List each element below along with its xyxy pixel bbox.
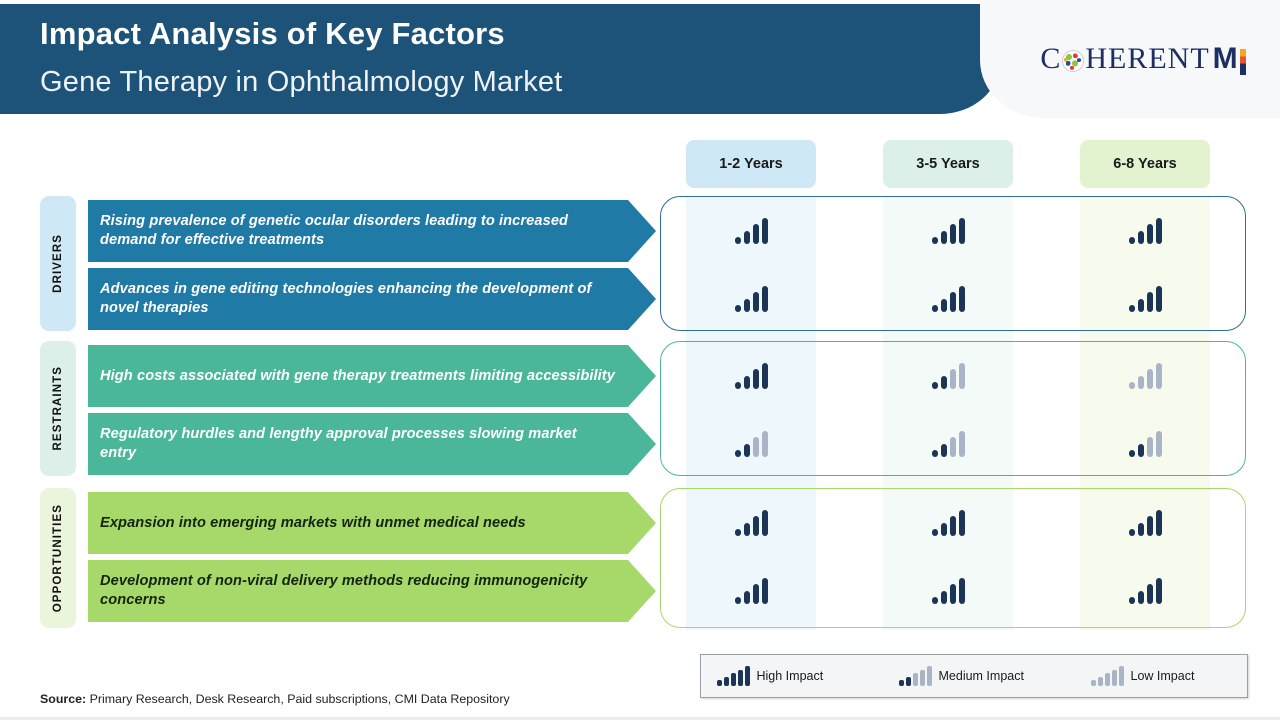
category-tab-opportunities[interactable]: OPPORTUNITIES: [40, 488, 76, 628]
factor-arrow[interactable]: Advances in gene editing technologies en…: [88, 268, 656, 330]
legend-label: Low Impact: [1131, 669, 1195, 683]
impact-cell: [686, 413, 816, 475]
page-title: Impact Analysis of Key Factors: [40, 16, 505, 52]
legend-item-medium: Medium Impact: [899, 666, 1024, 686]
impact-cell: [686, 200, 816, 262]
impact-cell: [1080, 413, 1210, 475]
legend-label: Medium Impact: [939, 669, 1024, 683]
logo-panel: CHERENT M: [980, 0, 1280, 118]
factor-arrow[interactable]: High costs associated with gene therapy …: [88, 345, 656, 407]
impact-cell: [883, 492, 1013, 554]
factor-arrow[interactable]: Rising prevalence of genetic ocular diso…: [88, 200, 656, 262]
impact-cell: [686, 268, 816, 330]
impact-cell: [686, 492, 816, 554]
impact-bars-high: [735, 218, 768, 244]
logo-text-part1: C: [1040, 42, 1061, 76]
logo-text-part3: M: [1213, 42, 1238, 75]
impact-cell: [1080, 268, 1210, 330]
factor-text: Advances in gene editing technologies en…: [100, 280, 616, 317]
impact-bars-high: [932, 218, 965, 244]
impact-bars-high: [932, 578, 965, 604]
factor-arrow[interactable]: Regulatory hurdles and lengthy approval …: [88, 413, 656, 475]
impact-bars-medium: [932, 431, 965, 457]
column-header-2[interactable]: 3-5 Years: [883, 140, 1013, 188]
impact-cell: [1080, 560, 1210, 622]
logo-text: CHERENT: [1040, 42, 1209, 76]
impact-bars-high: [735, 578, 768, 604]
impact-cell: [883, 345, 1013, 407]
impact-bars-high: [1129, 218, 1162, 244]
impact-bars-high: [1129, 286, 1162, 312]
impact-bars-medium: [1129, 431, 1162, 457]
factor-text: Rising prevalence of genetic ocular diso…: [100, 212, 616, 249]
impact-cell: [686, 560, 816, 622]
impact-bars-high: [932, 286, 965, 312]
factor-arrow[interactable]: Expansion into emerging markets with unm…: [88, 492, 656, 554]
impact-cell: [883, 268, 1013, 330]
infographic-page: Impact Analysis of Key Factors Gene Ther…: [0, 0, 1280, 720]
source-text: Primary Research, Desk Research, Paid su…: [86, 692, 510, 706]
legend-label: High Impact: [757, 669, 824, 683]
page-subtitle: Gene Therapy in Ophthalmology Market: [40, 66, 563, 99]
factor-text: Regulatory hurdles and lengthy approval …: [100, 425, 616, 462]
logo-text-part2: HERENT: [1085, 42, 1209, 76]
impact-bars-high: [932, 510, 965, 536]
legend-item-low: Low Impact: [1091, 666, 1194, 686]
impact-bars-medium: [932, 363, 965, 389]
column-header-1[interactable]: 1-2 Years: [686, 140, 816, 188]
logo-mi: M: [1213, 42, 1238, 76]
impact-bars-medium: [735, 431, 768, 457]
source-label: Source:: [40, 692, 86, 706]
logo-i-accent-icon: [1240, 49, 1246, 75]
category-tab-restraints[interactable]: RESTRAINTS: [40, 341, 76, 476]
column-header-label: 6-8 Years: [1113, 156, 1176, 172]
legend-item-high: High Impact: [717, 666, 823, 686]
globe-icon: [1062, 50, 1084, 72]
impact-cell: [1080, 492, 1210, 554]
category-tab-label: RESTRAINTS: [52, 366, 64, 450]
impact-bars-high: [735, 510, 768, 536]
brand-logo: CHERENT M: [1014, 42, 1245, 76]
impact-cell: [883, 200, 1013, 262]
column-header-label: 3-5 Years: [916, 156, 979, 172]
impact-bars-high: [735, 286, 768, 312]
category-tab-label: OPPORTUNITIES: [52, 504, 64, 612]
category-tab-label: DRIVERS: [52, 234, 64, 293]
impact-cell: [1080, 200, 1210, 262]
impact-cell: [883, 413, 1013, 475]
impact-cell: [686, 345, 816, 407]
column-header-3[interactable]: 6-8 Years: [1080, 140, 1210, 188]
impact-cell: [883, 560, 1013, 622]
legend-bars-icon-high: [717, 666, 750, 686]
source-note: Source: Primary Research, Desk Research,…: [40, 692, 510, 706]
header: Impact Analysis of Key Factors Gene Ther…: [0, 0, 1280, 118]
impact-bars-high: [1129, 578, 1162, 604]
factor-text: Expansion into emerging markets with unm…: [100, 514, 526, 533]
impact-bars-high: [1129, 510, 1162, 536]
factor-arrow[interactable]: Development of non-viral delivery method…: [88, 560, 656, 622]
impact-bars-high: [735, 363, 768, 389]
legend-bars-icon-low: [1091, 666, 1124, 686]
column-header-label: 1-2 Years: [719, 156, 782, 172]
impact-bars-low: [1129, 363, 1162, 389]
category-tab-drivers[interactable]: DRIVERS: [40, 196, 76, 331]
impact-cell: [1080, 345, 1210, 407]
factor-text: Development of non-viral delivery method…: [100, 572, 616, 609]
legend: High ImpactMedium ImpactLow Impact: [700, 654, 1248, 698]
legend-bars-icon-medium: [899, 666, 932, 686]
factor-text: High costs associated with gene therapy …: [100, 367, 615, 386]
